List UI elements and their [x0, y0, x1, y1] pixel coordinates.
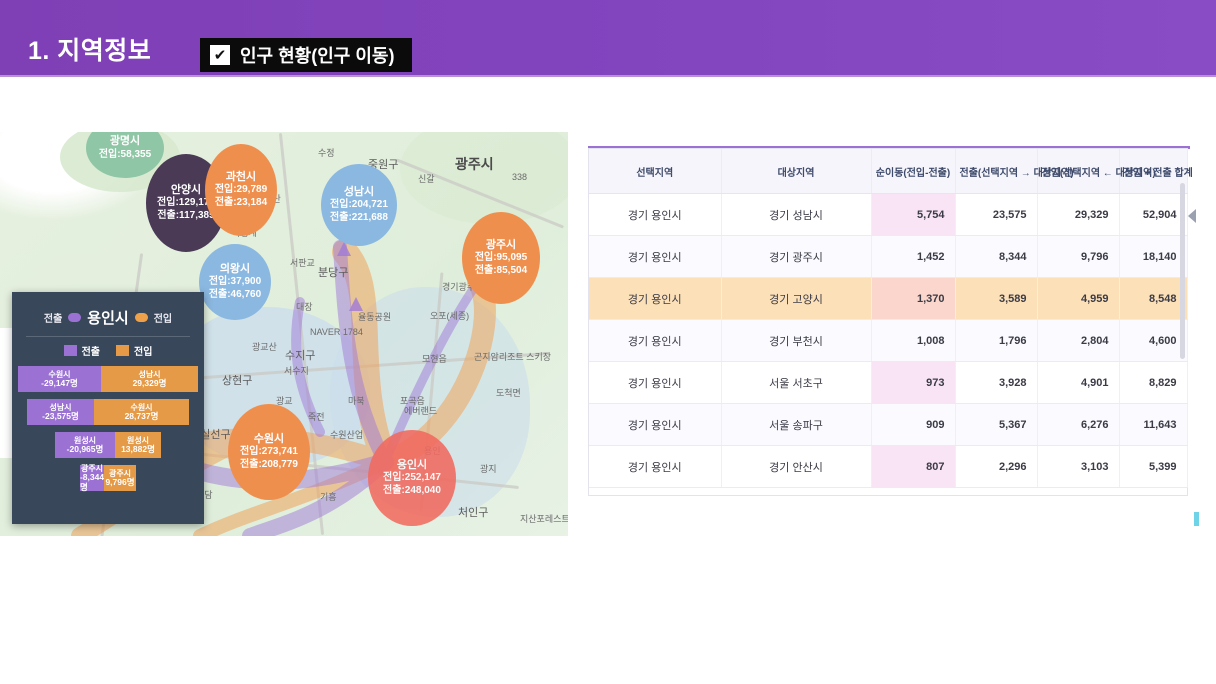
- bubble-in-value: 전입:29,789: [215, 184, 267, 197]
- bubble-in-value: 전입:252,147: [383, 472, 441, 485]
- column-header-total[interactable]: 전입 + 전출 합계: [1119, 149, 1187, 194]
- bubble-name: 성남시: [344, 186, 374, 200]
- migration-table[interactable]: 선택지역 대상지역 순이동(전입-전출) 전출(선택지역 → 대상지역) 전입(…: [588, 148, 1188, 496]
- map-place-label: 분당구: [318, 264, 348, 280]
- map-route-badge: 338: [512, 172, 527, 182]
- cell-out: 3,589: [955, 278, 1037, 320]
- tooltip-bar-out: 수원시 -29,147명: [18, 366, 101, 392]
- table-row[interactable]: 경기 용인시 경기 부천시 1,008 1,796 2,804 4,600: [589, 320, 1187, 362]
- bubble-name: 광명시: [110, 135, 140, 149]
- page-title: 1. 지역정보: [28, 31, 151, 67]
- tooltip-bar-in: 수원시 28,737명: [94, 399, 189, 425]
- cell-out: 2,296: [955, 446, 1037, 488]
- bubble-in-value: 전입:58,355: [99, 149, 151, 162]
- bubble-name: 수원시: [254, 433, 284, 447]
- map-place-label: 에버랜드: [404, 404, 437, 417]
- cell-net: 1,370: [871, 278, 955, 320]
- migration-map[interactable]: 광주시 중원구 수정 청계산 북청계 학의 서판교 분당구 율동공원 오포(세종…: [0, 132, 568, 536]
- bubble-out-value: 전출:221,688: [330, 212, 388, 225]
- table-body: 경기 용인시 경기 성남시 5,754 23,575 29,329 52,904…: [589, 194, 1187, 488]
- bar-value: 29,329명: [133, 379, 167, 389]
- column-header-select-region[interactable]: 선택지역: [589, 149, 721, 194]
- map-place-label: 처인구: [458, 504, 488, 520]
- bubble-name: 용인시: [397, 459, 427, 473]
- cell-in: 29,329: [1037, 194, 1119, 236]
- bubble-name: 의왕시: [220, 263, 250, 277]
- cell-in: 2,804: [1037, 320, 1119, 362]
- bubble-name: 광주시: [486, 239, 516, 253]
- checkbox-icon[interactable]: ✔: [210, 45, 230, 65]
- cyan-indicator-mark: [1194, 512, 1199, 526]
- cell-net: 1,008: [871, 320, 955, 362]
- banner-underline: [0, 75, 1216, 77]
- migration-table-grid: 선택지역 대상지역 순이동(전입-전출) 전출(선택지역 → 대상지역) 전입(…: [589, 149, 1188, 488]
- column-header-out-migration[interactable]: 전출(선택지역 → 대상지역): [955, 149, 1037, 194]
- tooltip-bar-row: 수원시 -29,147명 성남시 29,329명: [16, 366, 200, 392]
- map-place-label: 모현읍: [422, 352, 447, 365]
- bubble-out-value: 전출:248,040: [383, 485, 441, 498]
- subsection-chip[interactable]: ✔ 인구 현황(인구 이동): [200, 38, 412, 72]
- bubble-out-value: 전출:85,504: [475, 265, 527, 278]
- bubble-in-value: 전입:37,900: [209, 276, 261, 289]
- cell-target-region: 경기 고양시: [721, 278, 871, 320]
- bar-value: 28,737명: [125, 412, 159, 422]
- cell-net: 973: [871, 362, 955, 404]
- cell-total: 8,548: [1119, 278, 1187, 320]
- cell-total: 11,643: [1119, 404, 1187, 446]
- cell-net: 1,452: [871, 236, 955, 278]
- in-dot-icon: [135, 313, 148, 322]
- cell-target-region: 경기 광주시: [721, 236, 871, 278]
- bubble-out-value: 전출:46,760: [209, 289, 261, 302]
- bubble-name: 과천시: [226, 171, 256, 185]
- tooltip-divider: [26, 336, 190, 337]
- map-place-label: 율동공원: [358, 310, 391, 323]
- map-bubble-gwangju[interactable]: 광주시 전입:95,095 전출:85,504: [462, 212, 540, 304]
- map-place-label: 도척면: [496, 386, 521, 399]
- bubble-out-value: 전출:23,184: [215, 197, 267, 210]
- tooltip-bar-row: 광주시 -8,344명 광주시 9,796명: [16, 465, 200, 491]
- cell-total: 5,399: [1119, 446, 1187, 488]
- map-place-label: 기흥: [320, 490, 337, 503]
- cell-target-region: 서울 서초구: [721, 362, 871, 404]
- map-bubble-suwon[interactable]: 수원시 전입:273,741 전출:208,779: [228, 404, 310, 500]
- map-place-label: 광교산: [252, 340, 277, 353]
- map-place-label: 광주시: [455, 154, 494, 174]
- bubble-in-value: 전입:204,721: [330, 199, 388, 212]
- map-place-label: 마북: [348, 394, 365, 407]
- map-bubble-gwacheon[interactable]: 과천시 전입:29,789 전출:23,184: [205, 144, 277, 236]
- cell-target-region: 서울 송파구: [721, 404, 871, 446]
- tooltip-header: 전출 용인시 전입: [12, 300, 204, 334]
- map-place-label: 광지: [480, 462, 497, 475]
- map-place-label: 상현구: [222, 372, 252, 388]
- column-header-target-region[interactable]: 대상지역: [721, 149, 871, 194]
- cell-out: 8,344: [955, 236, 1037, 278]
- map-tooltip-panel[interactable]: 전출 용인시 전입 전출 전입 수원시: [12, 292, 204, 524]
- bar-value: 13,882명: [121, 445, 155, 455]
- map-bubble-uiwang[interactable]: 의왕시 전입:37,900 전출:46,760: [199, 244, 271, 320]
- cell-out: 23,575: [955, 194, 1037, 236]
- bubble-in-value: 전입:95,095: [475, 252, 527, 265]
- cell-in: 4,901: [1037, 362, 1119, 404]
- legend-swatch-out-icon: [64, 345, 77, 356]
- tooltip-bar-out: 광주시 -8,344명: [80, 465, 104, 491]
- map-place-label: 수지구: [285, 347, 315, 363]
- map-place-label: 죽전: [308, 410, 325, 423]
- out-dot-icon: [68, 313, 81, 322]
- map-route-badge: 신갈: [418, 172, 435, 185]
- cell-select-region: 경기 용인시: [589, 320, 721, 362]
- cell-out: 5,367: [955, 404, 1037, 446]
- bar-value: -8,344명: [80, 473, 104, 493]
- table-row-highlighted[interactable]: 경기 용인시 경기 고양시 1,370 3,589 4,959 8,548: [589, 278, 1187, 320]
- cell-total: 18,140: [1119, 236, 1187, 278]
- tooltip-bar-out: 성남시 -23,575명: [27, 399, 94, 425]
- column-header-net-migration[interactable]: 순이동(전입-전출): [871, 149, 955, 194]
- legend-swatch-in-icon: [116, 345, 129, 356]
- tooltip-city: 용인시: [87, 307, 128, 328]
- legend-item-out: 전출: [64, 343, 100, 358]
- map-place-label: 수정: [318, 146, 335, 159]
- bubble-name: 안양시: [171, 184, 201, 198]
- legend-label-in: 전입: [134, 343, 152, 358]
- cell-target-region: 경기 부천시: [721, 320, 871, 362]
- cell-total: 4,600: [1119, 320, 1187, 362]
- cell-in: 3,103: [1037, 446, 1119, 488]
- map-place-label: 수원산업: [330, 428, 363, 441]
- bar-value: -20,965명: [67, 445, 104, 455]
- cell-in: 9,796: [1037, 236, 1119, 278]
- table-row[interactable]: 경기 용인시 서울 송파구 909 5,367 6,276 11,643: [589, 404, 1187, 446]
- tooltip-bar-out: 원성시 -20,965명: [55, 432, 115, 458]
- cell-out: 3,928: [955, 362, 1037, 404]
- map-bubble-seongnam[interactable]: 성남시 전입:204,721 전출:221,688: [321, 164, 397, 246]
- tooltip-bar-rows: 수원시 -29,147명 성남시 29,329명 성남시 -23,575명 수원…: [12, 366, 204, 491]
- cell-select-region: 경기 용인시: [589, 446, 721, 488]
- legend-label-out: 전출: [82, 343, 100, 358]
- map-place-label: 대장: [296, 300, 313, 313]
- bubble-out-value: 전출:117,385: [157, 210, 214, 223]
- tooltip-bar-in: 원성시 13,882명: [115, 432, 161, 458]
- cell-net: 807: [871, 446, 955, 488]
- cell-out: 1,796: [955, 320, 1037, 362]
- table-row[interactable]: 경기 용인시 경기 광주시 1,452 8,344 9,796 18,140: [589, 236, 1187, 278]
- cell-net: 909: [871, 404, 955, 446]
- tooltip-out-label: 전출: [44, 310, 62, 325]
- table-header-row: 선택지역 대상지역 순이동(전입-전출) 전출(선택지역 → 대상지역) 전입(…: [589, 149, 1187, 194]
- cell-total: 52,904: [1119, 194, 1187, 236]
- table-row[interactable]: 경기 용인시 경기 안산시 807 2,296 3,103 5,399: [589, 446, 1187, 488]
- cell-select-region: 경기 용인시: [589, 236, 721, 278]
- panel-collapse-arrow-icon[interactable]: [1188, 209, 1196, 223]
- cell-in: 6,276: [1037, 404, 1119, 446]
- tooltip-legend: 전출 전입: [12, 343, 204, 358]
- cell-in: 4,959: [1037, 278, 1119, 320]
- map-place-label: 오포(세종): [430, 309, 469, 322]
- bar-value: 9,796명: [105, 478, 134, 488]
- cell-select-region: 경기 용인시: [589, 404, 721, 446]
- cell-target-region: 경기 성남시: [721, 194, 871, 236]
- map-place-label: 서판교: [290, 256, 315, 269]
- bar-value: -29,147명: [41, 379, 78, 389]
- table-row[interactable]: 경기 용인시 경기 성남시 5,754 23,575 29,329 52,904: [589, 194, 1187, 236]
- bubble-out-value: 전출:208,779: [240, 459, 298, 472]
- map-place-label: 지산포레스트: [520, 512, 568, 525]
- tooltip-bar-in: 성남시 29,329명: [101, 366, 198, 392]
- tooltip-bar-in: 광주시 9,796명: [104, 465, 136, 491]
- column-header-in-migration[interactable]: 전입(선택지역 ← 대상지역): [1037, 149, 1119, 194]
- cell-select-region: 경기 용인시: [589, 194, 721, 236]
- map-place-label: 서수지: [284, 364, 309, 377]
- cell-total: 8,829: [1119, 362, 1187, 404]
- cell-select-region: 경기 용인시: [589, 278, 721, 320]
- legend-item-in: 전입: [116, 343, 152, 358]
- tooltip-bar-row: 성남시 -23,575명 수원시 28,737명: [16, 399, 200, 425]
- bubble-in-value: 전입:273,741: [240, 446, 298, 459]
- tooltip-in-label: 전입: [154, 310, 172, 325]
- cell-target-region: 경기 안산시: [721, 446, 871, 488]
- subsection-chip-label: 인구 현황(인구 이동): [240, 42, 394, 68]
- map-bubble-yongin[interactable]: 용인시 전입:252,147 전출:248,040: [368, 430, 456, 526]
- map-place-label: 곤지암리조트 스키장: [474, 350, 551, 363]
- cell-net: 5,754: [871, 194, 955, 236]
- cell-select-region: 경기 용인시: [589, 362, 721, 404]
- bar-value: -23,575명: [42, 412, 79, 422]
- table-row[interactable]: 경기 용인시 서울 서초구 973 3,928 4,901 8,829: [589, 362, 1187, 404]
- table-scrollbar-thumb[interactable]: [1180, 183, 1185, 359]
- page-root: 1. 지역정보 ✔ 인구 현황(인구 이동): [0, 0, 1216, 684]
- tooltip-bar-row: 원성시 -20,965명 원성시 13,882명: [16, 432, 200, 458]
- map-place-label: NAVER 1784: [310, 327, 363, 337]
- header-banner: 1. 지역정보 ✔ 인구 현황(인구 이동): [0, 0, 1216, 77]
